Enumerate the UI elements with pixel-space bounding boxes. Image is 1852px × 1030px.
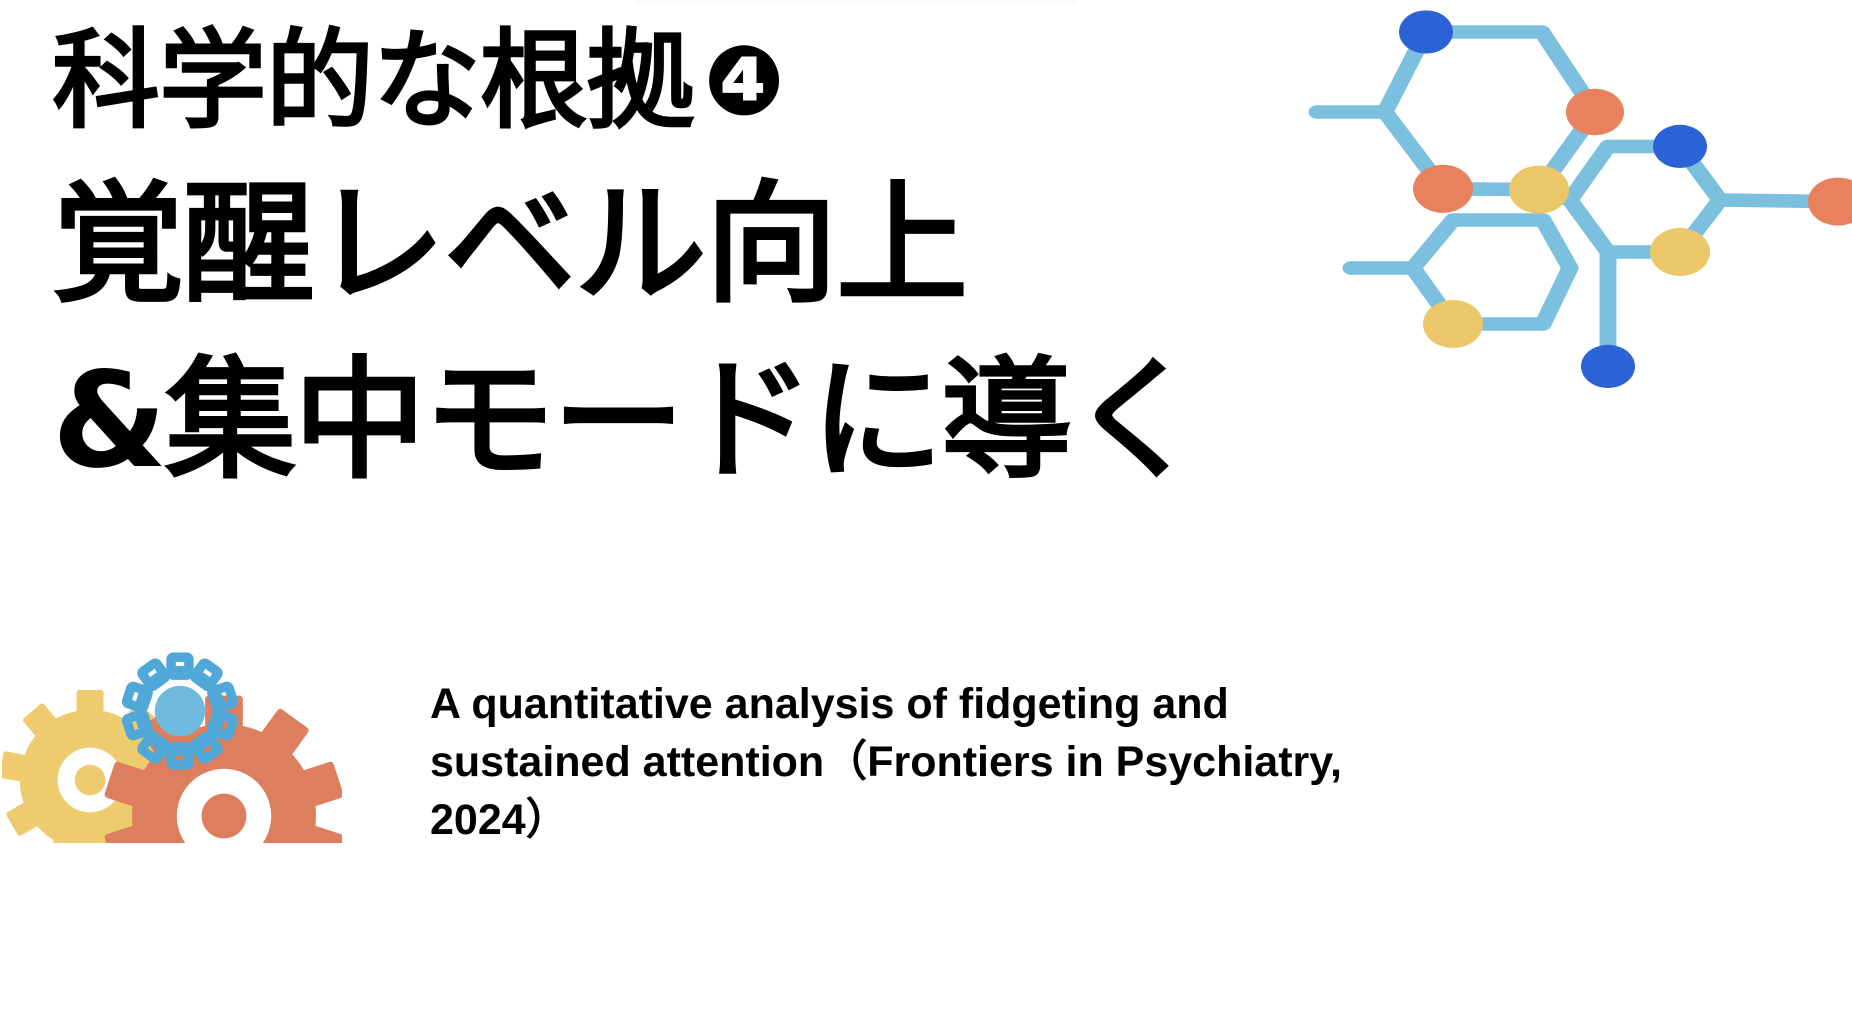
subtitle-line-1: A quantitative analysis of fidgeting and: [430, 675, 1490, 733]
molecule-hexagon-icon: [1295, 0, 1852, 396]
evidence-number-badge: ❹: [704, 25, 784, 137]
atom-node-blue: [1581, 345, 1635, 388]
slide-canvas: 科学的な根拠❹ 覚醒レベル向上 &集中モードに導く A quantitative…: [0, 0, 1852, 1030]
atom-node-orange: [1566, 89, 1624, 135]
headline-block: 科学的な根拠❹ 覚醒レベル向上 &集中モードに導く: [52, 6, 1372, 509]
subtitle-line-3: 2024）: [430, 791, 1490, 849]
gears-illustration: [2, 578, 342, 843]
headline-line-1-text: 科学的な根拠: [52, 19, 694, 144]
atom-node-yellow: [1650, 228, 1710, 276]
subtitle-block: A quantitative analysis of fidgeting and…: [430, 675, 1490, 849]
top-edge-artifact: [636, 0, 1076, 4]
atom-node-blue: [1653, 125, 1707, 168]
gear-blue-hub: [155, 686, 205, 736]
headline-line-1: 科学的な根拠❹: [52, 6, 1372, 157]
headline-line-2: 覚醒レベル向上: [52, 157, 1372, 333]
gear-blue-small: [126, 657, 234, 765]
atom-node-yellow: [1423, 300, 1483, 348]
gear-cluster-icon: [2, 578, 342, 843]
molecule-illustration: [1295, 0, 1852, 396]
headline-line-3: &集中モードに導く: [52, 333, 1372, 509]
molecule-bonds: [1317, 32, 1838, 366]
atom-node-orange: [1413, 165, 1473, 213]
gear-orange-hub: [202, 794, 247, 839]
atom-node-blue: [1399, 10, 1453, 53]
atom-node-yellow: [1509, 166, 1569, 214]
subtitle-line-2: sustained attention（Frontiers in Psychia…: [430, 733, 1490, 791]
gear-yellow-hub: [75, 765, 106, 796]
atom-node-orange: [1808, 178, 1852, 226]
